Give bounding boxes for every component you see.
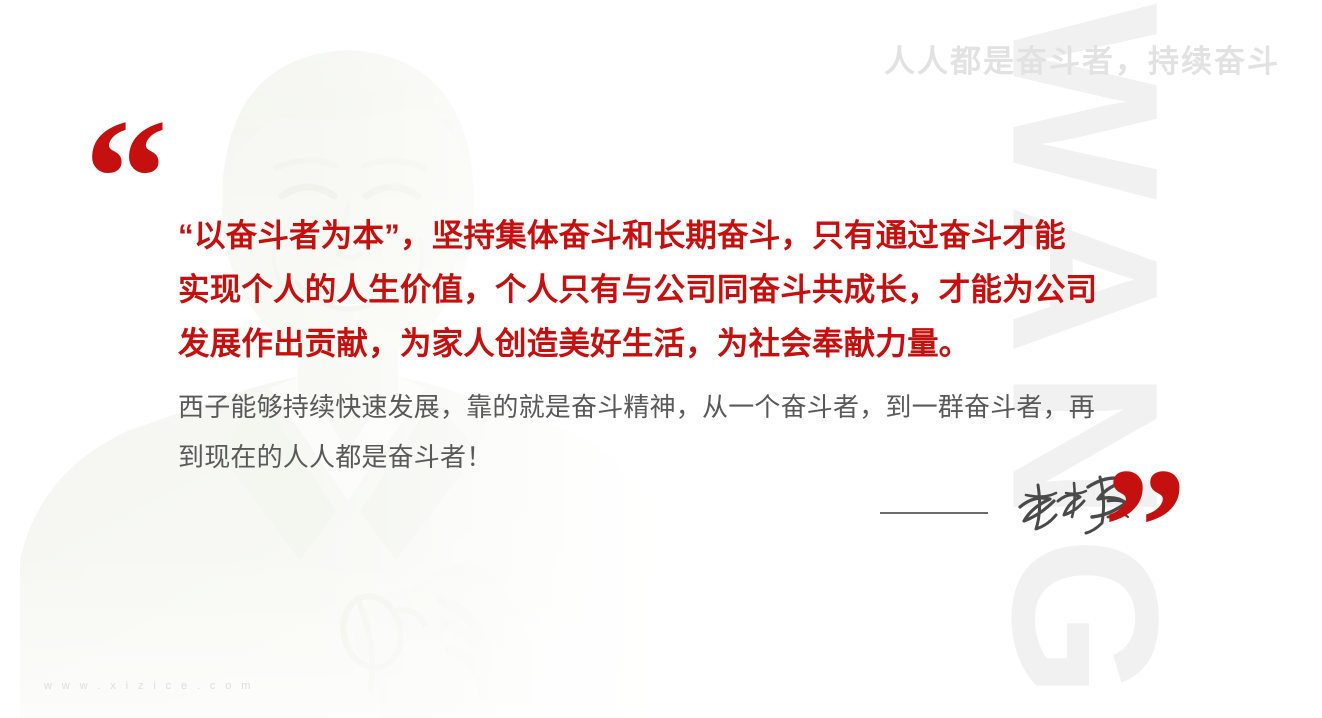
quote-highlight-line: 发展作出贡献，为家人创造美好生活，为社会奉献力量。 (178, 316, 1166, 370)
open-quote-icon: “ (84, 94, 168, 262)
quote-highlight-line: 实现个人的人生价值，个人只有与公司同奋斗共成长，才能为公司 (178, 262, 1166, 316)
footer-website-url: w w w . x i z i c e . c o m (44, 680, 254, 692)
quote-body-line: 西子能够持续快速发展，靠的就是奋斗精神，从一个奋斗者，到一群奋斗者，再 (178, 382, 1166, 432)
quote-block: “以奋斗者为本”，坚持集体奋斗和长期奋斗，只有通过奋斗才能 实现个人的人生价值，… (178, 208, 1166, 482)
signature-rule (880, 512, 988, 514)
header-slogan: 人人都是奋斗者，持续奋斗 (884, 36, 1280, 81)
quote-body: 西子能够持续快速发展，靠的就是奋斗精神，从一个奋斗者，到一群奋斗者，再 到现在的… (178, 382, 1166, 482)
quote-highlight-line: “以奋斗者为本”，坚持集体奋斗和长期奋斗，只有通过奋斗才能 (178, 208, 1166, 262)
quote-slide: WANG 人人都是奋斗者，持续奋斗 “ “以奋斗者为本”，坚持集体奋斗和长期奋斗… (0, 0, 1322, 718)
quote-highlight: “以奋斗者为本”，坚持集体奋斗和长期奋斗，只有通过奋斗才能 实现个人的人生价值，… (178, 208, 1166, 370)
close-quote-icon: ” (1103, 443, 1187, 611)
